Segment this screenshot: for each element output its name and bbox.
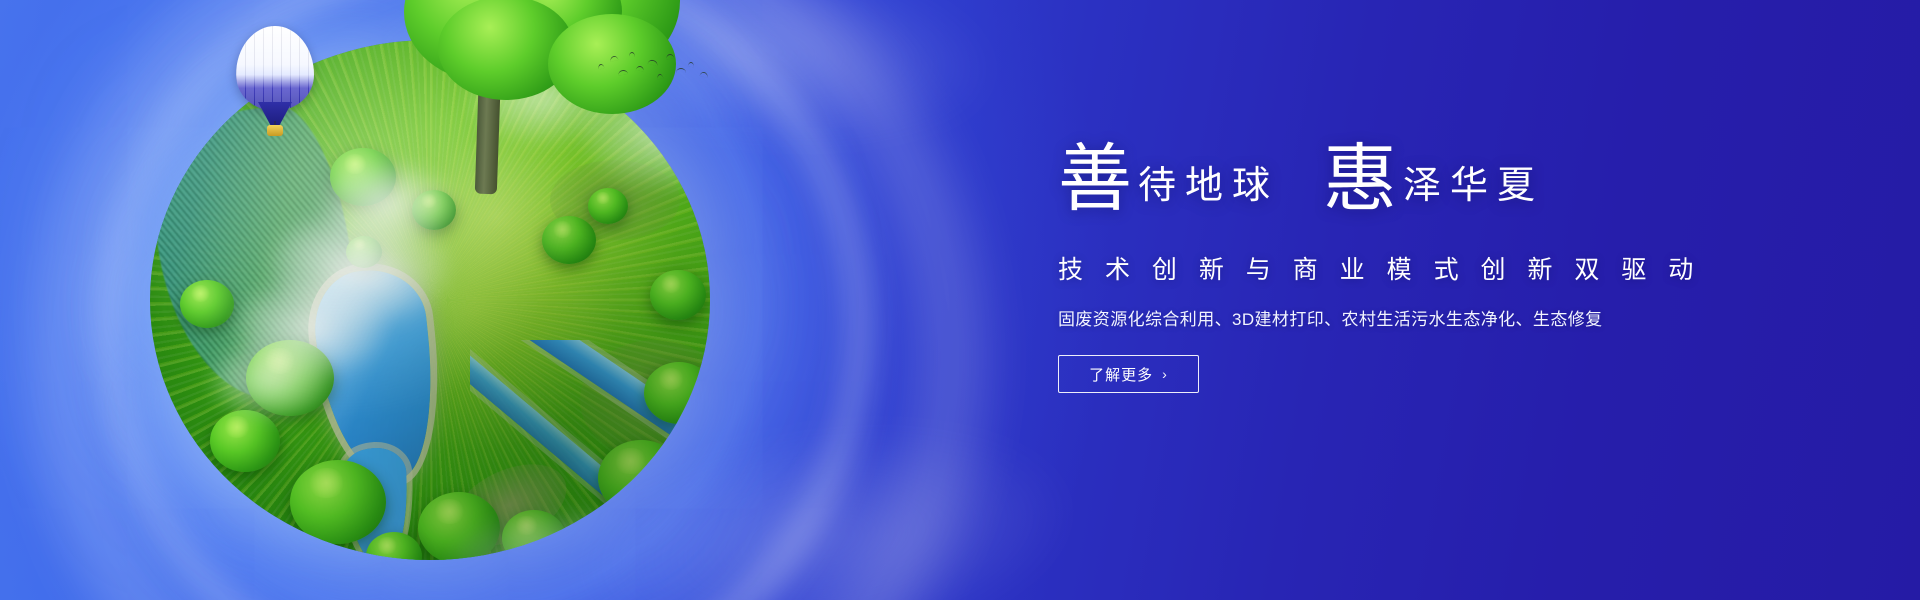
- bird-icon: [597, 63, 604, 70]
- lake-outflow: [343, 446, 411, 560]
- headline-text-secondary: 待地球: [1138, 163, 1279, 207]
- tree-canopy: [650, 270, 706, 320]
- chevron-right-icon: ›: [1162, 367, 1168, 381]
- hero-tree: [398, 0, 698, 218]
- subtitle: 技 术 创 新 与 商 业 模 式 创 新 双 驱 动: [1058, 250, 1778, 286]
- river-band: [470, 342, 684, 552]
- bird-icon: [629, 52, 635, 57]
- hero-copy: 善待地球惠泽华夏 技 术 创 新 与 商 业 模 式 创 新 双 驱 动 固废资…: [1058, 142, 1778, 393]
- bird-icon: [618, 69, 628, 75]
- bird-icon: [610, 55, 619, 62]
- tree-canopy: [542, 216, 596, 264]
- tree-canopy: [418, 492, 500, 560]
- hero-banner: 善待地球惠泽华夏 技 术 创 新 与 商 业 模 式 创 新 双 驱 动 固废资…: [0, 0, 1920, 600]
- bird-icon: [700, 71, 709, 78]
- mist-cloud: [270, 208, 450, 326]
- bird-icon: [676, 68, 686, 73]
- bird-icon: [648, 59, 659, 66]
- bird-icon: [656, 73, 663, 79]
- tree-canopy: [180, 280, 234, 328]
- bird-flock: [596, 46, 726, 90]
- balloon-basket: [267, 125, 283, 136]
- headline: 善待地球惠泽华夏: [1058, 142, 1778, 234]
- learn-more-button[interactable]: 了解更多 ›: [1058, 355, 1199, 393]
- headline-char-primary: 善: [1058, 136, 1132, 222]
- mist-cloud: [236, 278, 386, 378]
- tree-canopy: [644, 362, 710, 424]
- tree-canopy: [346, 236, 382, 268]
- learn-more-label: 了解更多: [1089, 364, 1153, 385]
- lake: [309, 265, 442, 486]
- tree-canopy: [210, 410, 280, 472]
- tree-canopy: [290, 460, 386, 544]
- tree-canopy: [330, 148, 396, 206]
- bird-icon: [636, 65, 645, 71]
- hot-air-balloon: [236, 26, 322, 144]
- tree-canopy: [598, 440, 684, 516]
- balloon-envelope: [236, 26, 314, 110]
- bird-icon: [666, 54, 675, 60]
- tree-canopy: [246, 340, 334, 416]
- headline-text-secondary: 泽华夏: [1403, 163, 1544, 207]
- headline-char-primary: 惠: [1323, 136, 1397, 222]
- mist-cloud: [210, 340, 330, 420]
- description: 固废资源化综合利用、3D建材打印、农村生活污水生态净化、生态修复: [1058, 305, 1778, 330]
- mountain-ridge: [150, 98, 369, 412]
- bird-icon: [688, 62, 695, 68]
- tree-canopy: [366, 532, 422, 560]
